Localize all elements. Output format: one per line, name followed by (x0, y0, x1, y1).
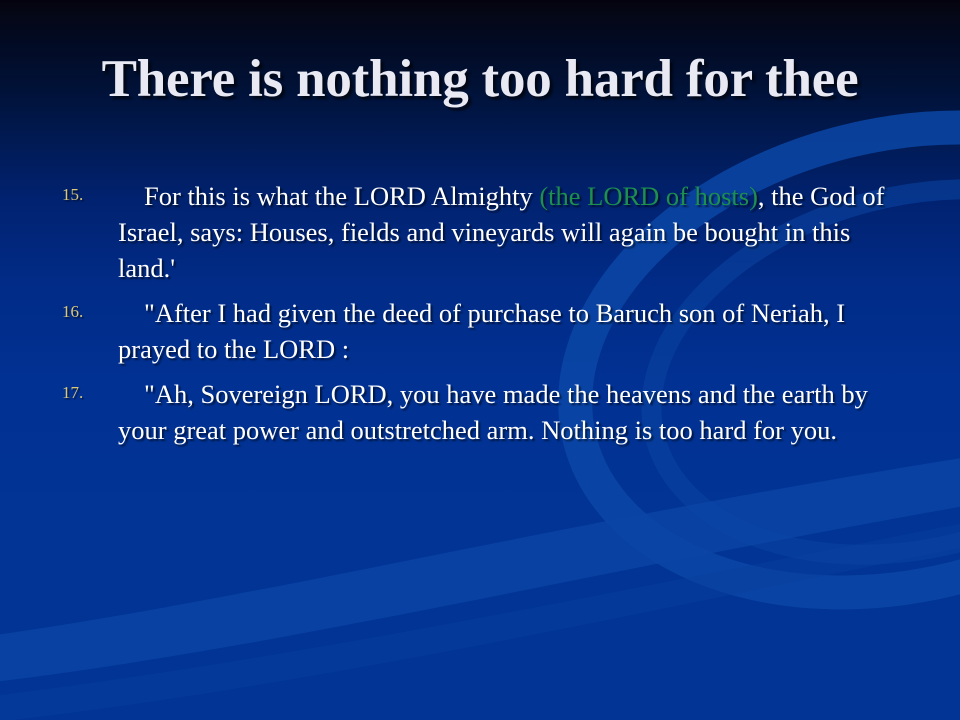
verse-text-before: "Ah, Sovereign LORD, you have made the h… (118, 379, 868, 445)
verse-text-before: "After I had given the deed of purchase … (118, 298, 845, 364)
verse-text-before: For this is what the LORD Almighty (144, 181, 539, 211)
verse-text-highlight: (the LORD of hosts) (539, 181, 758, 211)
verse-list: 15. For this is what the LORD Almighty (… (58, 178, 910, 457)
slide-canvas: There is nothing too hard for thee 15. F… (0, 0, 960, 720)
slide-title: There is nothing too hard for thee (0, 52, 960, 108)
verse-number: 15. (62, 183, 102, 207)
list-item: 16. "After I had given the deed of purch… (58, 295, 910, 367)
list-item: 15. For this is what the LORD Almighty (… (58, 178, 910, 286)
verse-number: 17. (62, 381, 102, 405)
verse-number: 16. (62, 300, 102, 324)
list-item: 17. "Ah, Sovereign LORD, you have made t… (58, 376, 910, 448)
